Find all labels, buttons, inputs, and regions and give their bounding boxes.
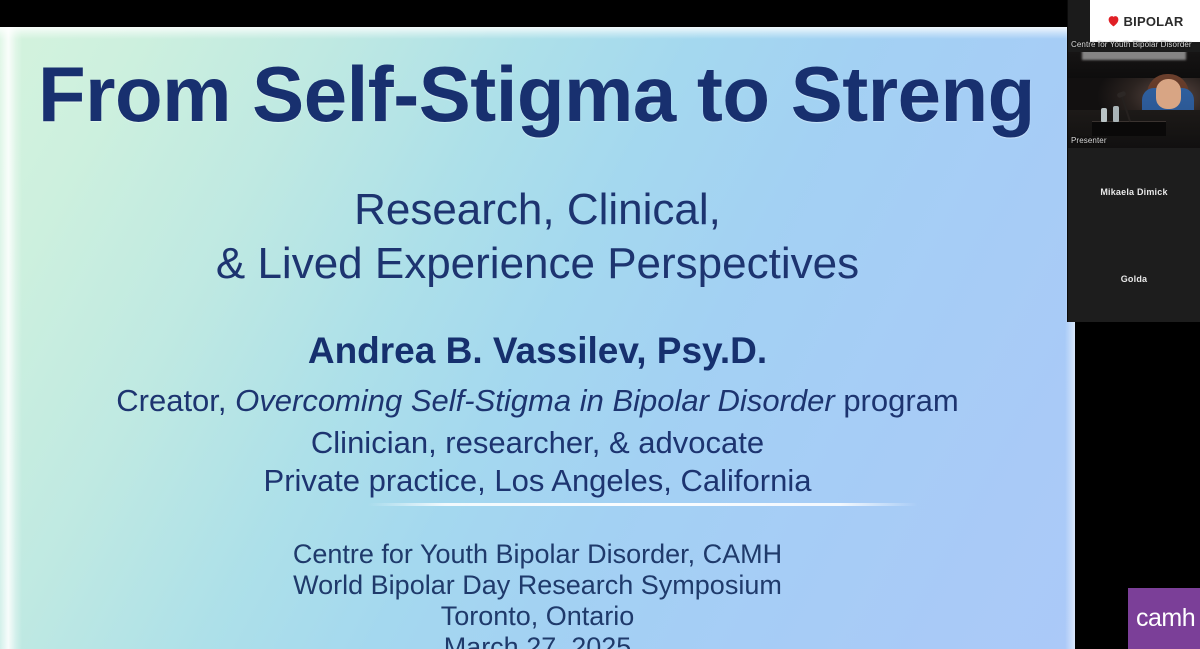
video-tile-caption-presenter: Presenter <box>1071 136 1107 145</box>
role-prefix: Creator, <box>116 383 235 418</box>
projection-screen-glow <box>1082 52 1186 60</box>
slide-divider-rule <box>368 503 918 506</box>
slide-subtitle-line-1: Research, Clinical, <box>0 187 1075 233</box>
participant-name-label: Mikaela Dimick <box>1068 187 1200 197</box>
screen-capture: From Self-Stigma to Streng Research, Cli… <box>0 0 1200 649</box>
slide-presenter-role-line-3: Private practice, Los Angeles, Californi… <box>0 465 1075 498</box>
bipolar-logo-text: BIPOLAR <box>1124 14 1184 29</box>
slide-event-line-4: March 27, 2025 <box>0 633 1075 649</box>
slide-event-line-1: Centre for Youth Bipolar Disorder, CAMH <box>0 540 1075 568</box>
podium-front-panel <box>1092 121 1166 136</box>
presenter-video-stream <box>1068 52 1200 148</box>
video-tile-presenter[interactable]: Presenter <box>1068 52 1200 148</box>
role-suffix: program <box>835 383 959 418</box>
speaker-face <box>1156 79 1181 109</box>
slide-edge-highlight-top <box>0 27 1075 39</box>
video-tile-caption-org: Centre for Youth Bipolar Disorder <box>1071 40 1192 49</box>
camh-logo-text: camh <box>1136 606 1195 631</box>
slide-event-line-3: Toronto, Ontario <box>0 602 1075 630</box>
slide-presenter-role-line-2: Clinician, researcher, & advocate <box>0 427 1075 460</box>
slide-title: From Self-Stigma to Streng <box>38 54 1035 136</box>
bipolar-logo-card: BIPOLAR <box>1090 0 1200 42</box>
video-tile-org-logo[interactable]: BIPOLAR Centre for Youth Bipolar Disorde… <box>1068 0 1200 52</box>
slide-subtitle-line-2: & Lived Experience Perspectives <box>0 241 1075 287</box>
slide-event-line-2: World Bipolar Day Research Symposium <box>0 571 1075 599</box>
camh-logo-watermark: camh <box>1128 588 1200 649</box>
video-tile-participant-1[interactable]: Mikaela Dimick <box>1068 148 1200 235</box>
slide-presenter-name: Andrea B. Vassilev, Psy.D. <box>0 332 1075 371</box>
presentation-slide: From Self-Stigma to Streng Research, Cli… <box>0 27 1075 649</box>
program-title-italic: Overcoming Self-Stigma in Bipolar Disord… <box>235 383 835 418</box>
slide-presenter-role-line-1: Creator, Overcoming Self-Stigma in Bipol… <box>0 385 1075 418</box>
video-tile-participant-2[interactable]: Golda <box>1068 235 1200 322</box>
water-bottle <box>1101 108 1107 122</box>
participant-name-label: Golda <box>1068 274 1200 284</box>
heart-icon <box>1107 15 1120 27</box>
water-bottle <box>1113 106 1119 122</box>
letterbox-bar-top <box>0 0 1200 27</box>
video-participant-panel[interactable]: BIPOLAR Centre for Youth Bipolar Disorde… <box>1067 0 1200 322</box>
